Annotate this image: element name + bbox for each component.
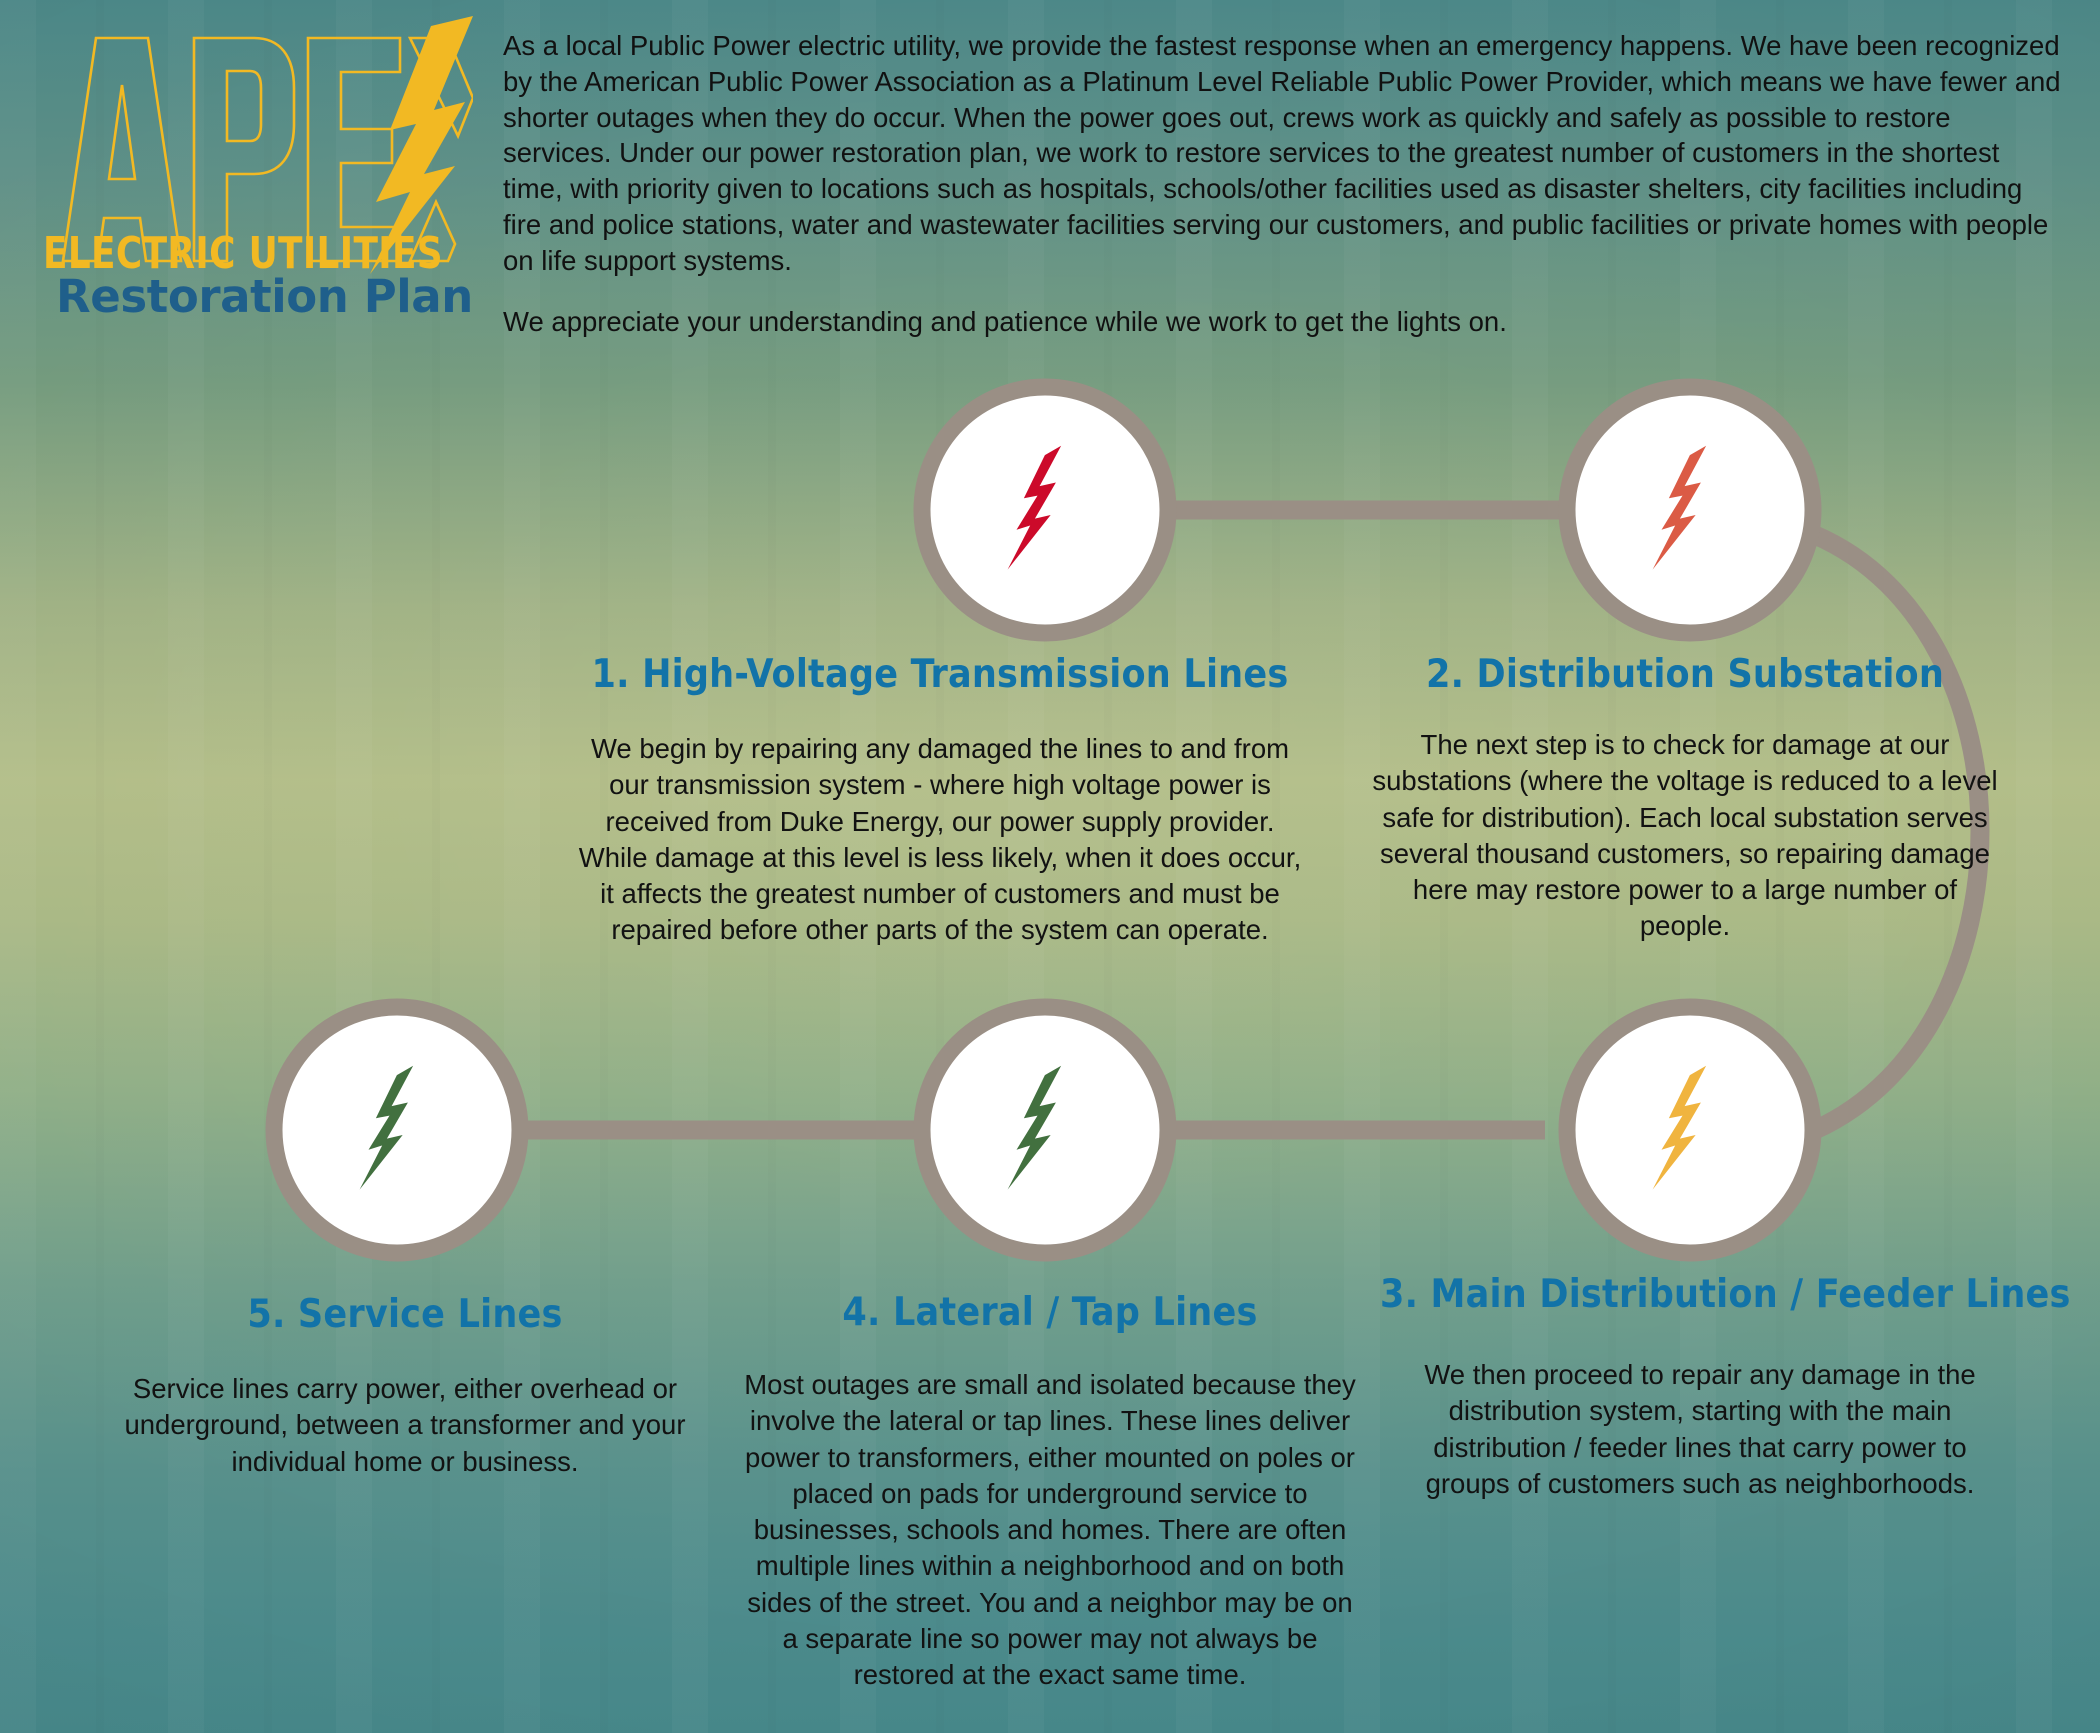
node-2-circle bbox=[1567, 387, 1813, 633]
intro-text-block: As a local Public Power electric utility… bbox=[503, 28, 2063, 340]
diagram-node-4[interactable] bbox=[922, 1007, 1168, 1253]
step-1-title: 1. High-Voltage Transmission Lines bbox=[500, 652, 1380, 697]
apex-logo: ELECTRIC UTILITIES bbox=[18, 6, 473, 276]
brand-logo-block: ELECTRIC UTILITIES Restoration Plan bbox=[18, 6, 488, 323]
diagram-node-2[interactable] bbox=[1567, 387, 1813, 633]
step-2-body: The next step is to check for damage at … bbox=[1355, 727, 2015, 945]
intro-paragraph-1: As a local Public Power electric utility… bbox=[503, 28, 2063, 278]
step-3-title: 3. Main Distribution / Feeder Lines bbox=[1380, 1272, 2020, 1317]
step-5-block: 5. Service Lines Service lines carry pow… bbox=[75, 1292, 735, 1480]
node-4-circle bbox=[922, 1007, 1168, 1253]
diagram-node-5[interactable] bbox=[274, 1007, 520, 1253]
document-title: Restoration Plan bbox=[56, 270, 488, 323]
step-2-title: 2. Distribution Substation bbox=[1355, 652, 2015, 697]
step-2-block: 2. Distribution Substation The next step… bbox=[1355, 652, 2015, 945]
step-4-block: 4. Lateral / Tap Lines Most outages are … bbox=[735, 1290, 1365, 1694]
step-4-body: Most outages are small and isolated beca… bbox=[735, 1367, 1365, 1694]
step-4-title: 4. Lateral / Tap Lines bbox=[735, 1290, 1365, 1335]
diagram-node-3[interactable] bbox=[1567, 1007, 1813, 1253]
node-5-circle bbox=[274, 1007, 520, 1253]
step-3-body: We then proceed to repair any damage in … bbox=[1380, 1357, 2020, 1502]
step-1-block: 1. High-Voltage Transmission Lines We be… bbox=[500, 652, 1380, 949]
node-1-circle bbox=[922, 387, 1168, 633]
step-5-body: Service lines carry power, either overhe… bbox=[75, 1371, 735, 1480]
brand-subtitle: ELECTRIC UTILITIES bbox=[43, 228, 443, 276]
step-3-block: 3. Main Distribution / Feeder Lines We t… bbox=[1380, 1272, 2020, 1502]
step-1-body: We begin by repairing any damaged the li… bbox=[500, 731, 1380, 949]
step-5-title: 5. Service Lines bbox=[75, 1292, 735, 1337]
diagram-node-1[interactable] bbox=[922, 387, 1168, 633]
node-3-circle bbox=[1567, 1007, 1813, 1253]
infographic-page: ELECTRIC UTILITIES Restoration Plan As a… bbox=[0, 0, 2100, 1733]
